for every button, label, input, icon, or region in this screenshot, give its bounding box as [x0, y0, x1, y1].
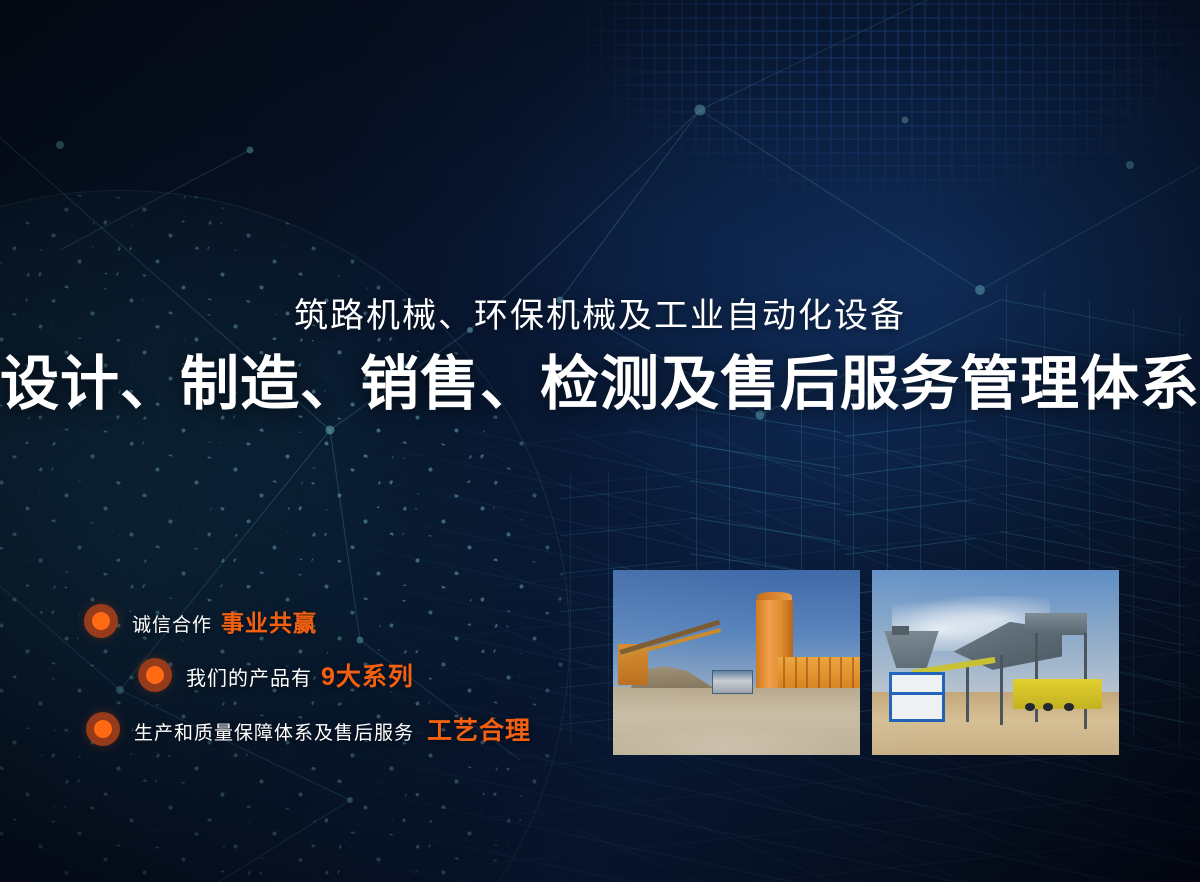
bullet-text: 生产和质量保障体系及售后服务工艺合理 [134, 711, 531, 747]
list-item: 诚信合作事业共赢 [0, 596, 600, 646]
list-item: 生产和质量保障体系及售后服务工艺合理 [0, 704, 600, 754]
banner-title: 设计、制造、销售、检测及售后服务管理体系 [0, 353, 1200, 417]
bullet-highlight-text: 事业共赢 [221, 610, 317, 636]
bullet-plain-text: 生产和质量保障体系及售后服务 [134, 723, 414, 744]
orange-dot-bullet-icon [138, 658, 172, 692]
bullet-highlight-text: 工艺合理 [427, 717, 531, 745]
globe-rim [0, 190, 570, 882]
orange-dot-bullet-icon [84, 604, 118, 638]
promo-banner: 筑路机械、环保机械及工业自动化设备 设计、制造、销售、检测及售后服务管理体系 诚… [0, 0, 1200, 882]
bullet-plain-text: 诚信合作 [132, 615, 212, 636]
feature-bullet-list: 诚信合作事业共赢 我们的产品有9大系列 生产和质量保障体系及售后服务工艺合理 [0, 596, 600, 754]
bullet-text: 诚信合作事业共赢 [132, 604, 317, 638]
list-item: 我们的产品有9大系列 [0, 650, 600, 700]
square-dot-grid-decoration [560, 0, 1200, 310]
concrete-batching-plant-photo [613, 570, 860, 755]
mobile-mixing-plant-photo [872, 570, 1119, 755]
banner-subtitle: 筑路机械、环保机械及工业自动化设备 [0, 296, 1200, 337]
bullet-highlight-text: 9大系列 [321, 663, 414, 691]
headline-block: 筑路机械、环保机械及工业自动化设备 设计、制造、销售、检测及售后服务管理体系 [0, 296, 1200, 417]
orange-dot-bullet-icon [86, 712, 120, 746]
bullet-plain-text: 我们的产品有 [186, 668, 312, 690]
dotted-globe-graphic [0, 190, 570, 882]
bullet-text: 我们的产品有9大系列 [186, 657, 414, 693]
